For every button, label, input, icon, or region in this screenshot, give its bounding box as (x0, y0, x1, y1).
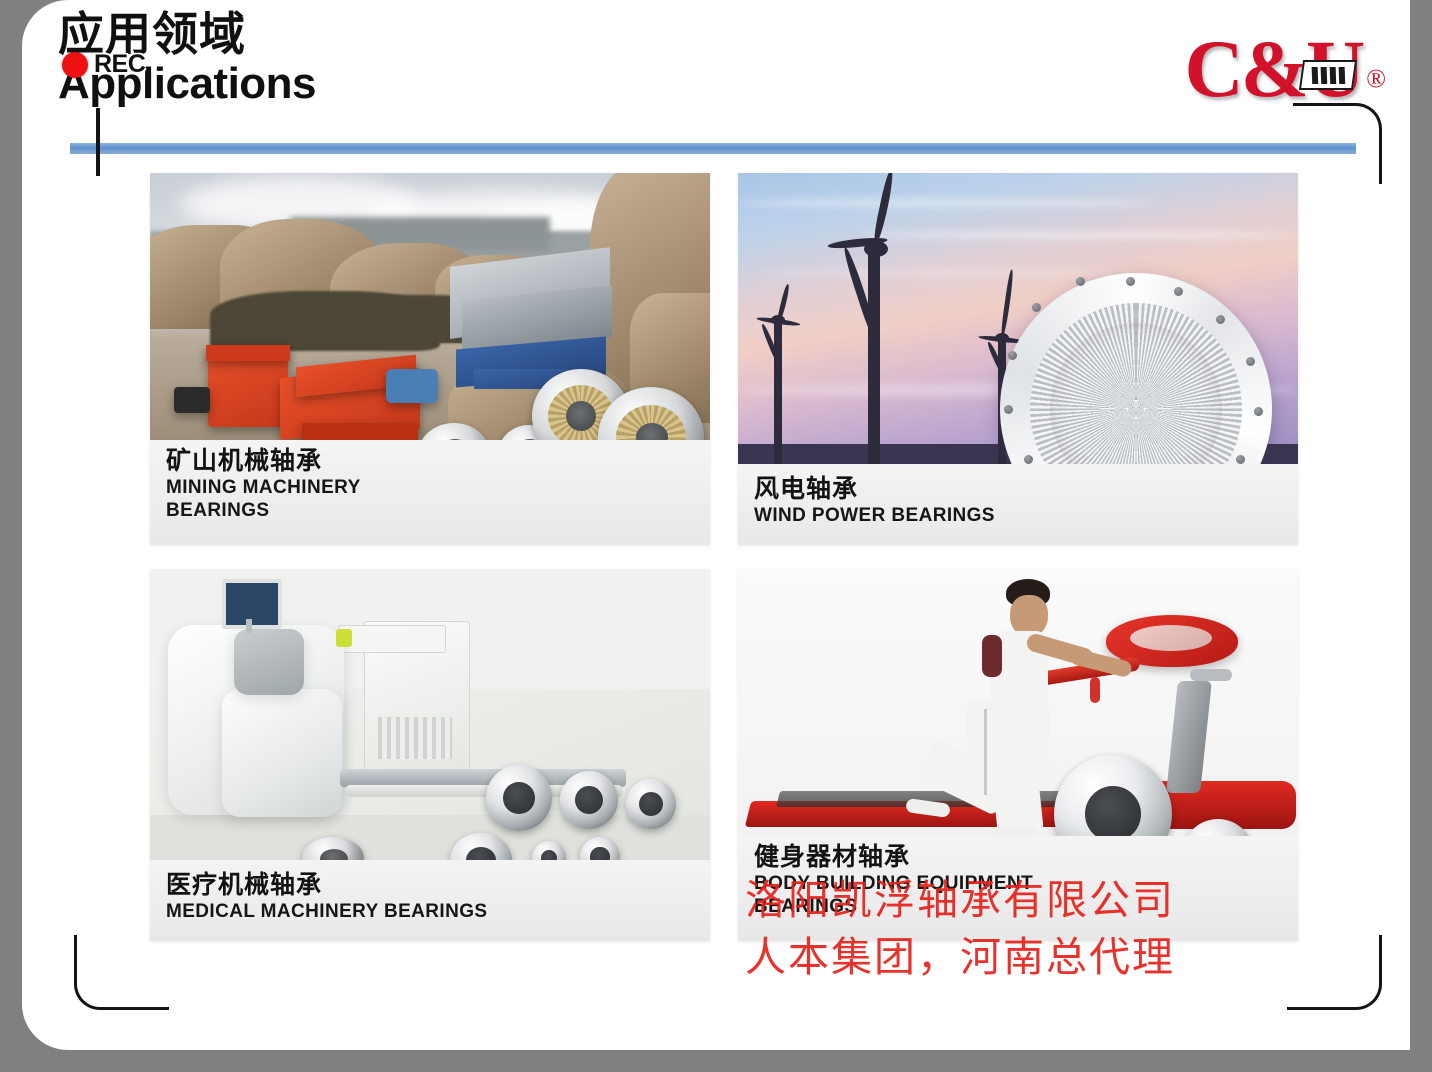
application-card-mining[interactable]: 矿山机械轴承 MINING MACHINERY BEARINGS (150, 173, 710, 545)
wind-power-label-cn: 风电轴承 (754, 474, 1298, 504)
medical-label-en-1: MEDICAL MACHINERY BEARINGS (166, 900, 710, 923)
medical-photo (150, 569, 710, 860)
slide-panel: 应用领域 Applications REC C&U ® (22, 0, 1410, 1050)
cu-logo: C&U ® (1184, 30, 1386, 108)
application-card-wind-power[interactable]: 风电轴承 WIND POWER BEARINGS (738, 173, 1298, 545)
body-building-label-cn: 健身器材轴承 (754, 842, 1298, 872)
rec-indicator: REC (62, 50, 145, 79)
bars-mark-icon (1299, 60, 1357, 90)
medical-caption: 医疗机械轴承 MEDICAL MACHINERY BEARINGS (150, 860, 710, 941)
body-building-label-en-2: BEARINGS (754, 895, 1298, 918)
registered-trademark-icon: ® (1366, 64, 1386, 94)
mining-caption: 矿山机械轴承 MINING MACHINERY BEARINGS (150, 440, 710, 545)
mining-label-en-2: BEARINGS (166, 499, 710, 522)
application-card-medical[interactable]: 医疗机械轴承 MEDICAL MACHINERY BEARINGS (150, 569, 710, 941)
bracket-top-left-line (96, 108, 100, 176)
application-card-body-building[interactable]: 健身器材轴承 BODY BUILDING EQUIPMENT BEARINGS (738, 569, 1298, 941)
body-building-caption: 健身器材轴承 BODY BUILDING EQUIPMENT BEARINGS (738, 836, 1298, 941)
wind-power-photo (738, 173, 1298, 464)
record-dot-icon (62, 52, 88, 78)
slide-header: 应用领域 Applications REC C&U ® (22, 0, 1410, 150)
wind-power-label-en-1: WIND POWER BEARINGS (754, 504, 1298, 527)
cu-logo-text: C&U (1184, 30, 1362, 108)
applications-grid: 矿山机械轴承 MINING MACHINERY BEARINGS (150, 173, 1318, 953)
mining-label-en-1: MINING MACHINERY (166, 476, 710, 499)
body-building-label-en-1: BODY BUILDING EQUIPMENT (754, 872, 1298, 895)
bracket-top-right (1293, 103, 1382, 184)
medical-label-cn: 医疗机械轴承 (166, 870, 710, 900)
mining-label-cn: 矿山机械轴承 (166, 446, 710, 476)
mining-photo (150, 173, 710, 440)
header-divider (70, 143, 1356, 154)
wind-power-caption: 风电轴承 WIND POWER BEARINGS (738, 464, 1298, 545)
body-building-photo (738, 569, 1298, 836)
rec-label: REC (94, 50, 145, 79)
